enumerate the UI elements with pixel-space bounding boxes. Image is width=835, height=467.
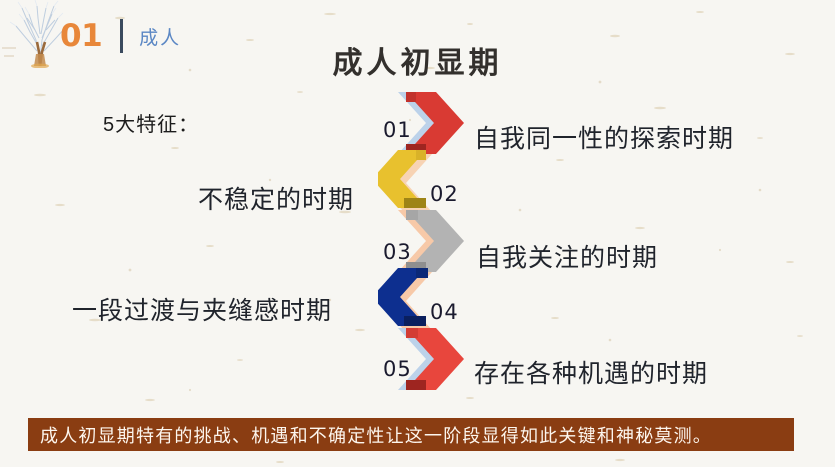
features-caption: 5大特征： bbox=[103, 108, 199, 137]
step-text-04: 一段过渡与夹缝感时期 bbox=[72, 291, 332, 327]
page-title: 成人初显期 bbox=[0, 38, 835, 82]
step-text-05: 存在各种机遇的时期 bbox=[474, 354, 708, 390]
step-number-01: 01 bbox=[383, 118, 412, 142]
step-text-02: 不稳定的时期 bbox=[198, 180, 354, 216]
step-text-01: 自我同一性的探索时期 bbox=[474, 119, 734, 155]
step-text-03: 自我关注的时期 bbox=[476, 238, 658, 274]
bottom-banner: 成人初显期特有的挑战、机遇和不确定性让这一阶段显得如此关键和神秘莫测。 bbox=[28, 418, 794, 451]
step-number-05: 05 bbox=[383, 357, 412, 381]
chevron-step-04 bbox=[378, 268, 432, 330]
chevron-step-02 bbox=[378, 150, 432, 212]
step-number-02: 02 bbox=[430, 182, 459, 206]
step-number-03: 03 bbox=[383, 240, 412, 264]
step-number-04: 04 bbox=[430, 300, 459, 324]
banner-text: 成人初显期特有的挑战、机遇和不确定性让这一阶段显得如此关键和神秘莫测。 bbox=[28, 422, 712, 448]
